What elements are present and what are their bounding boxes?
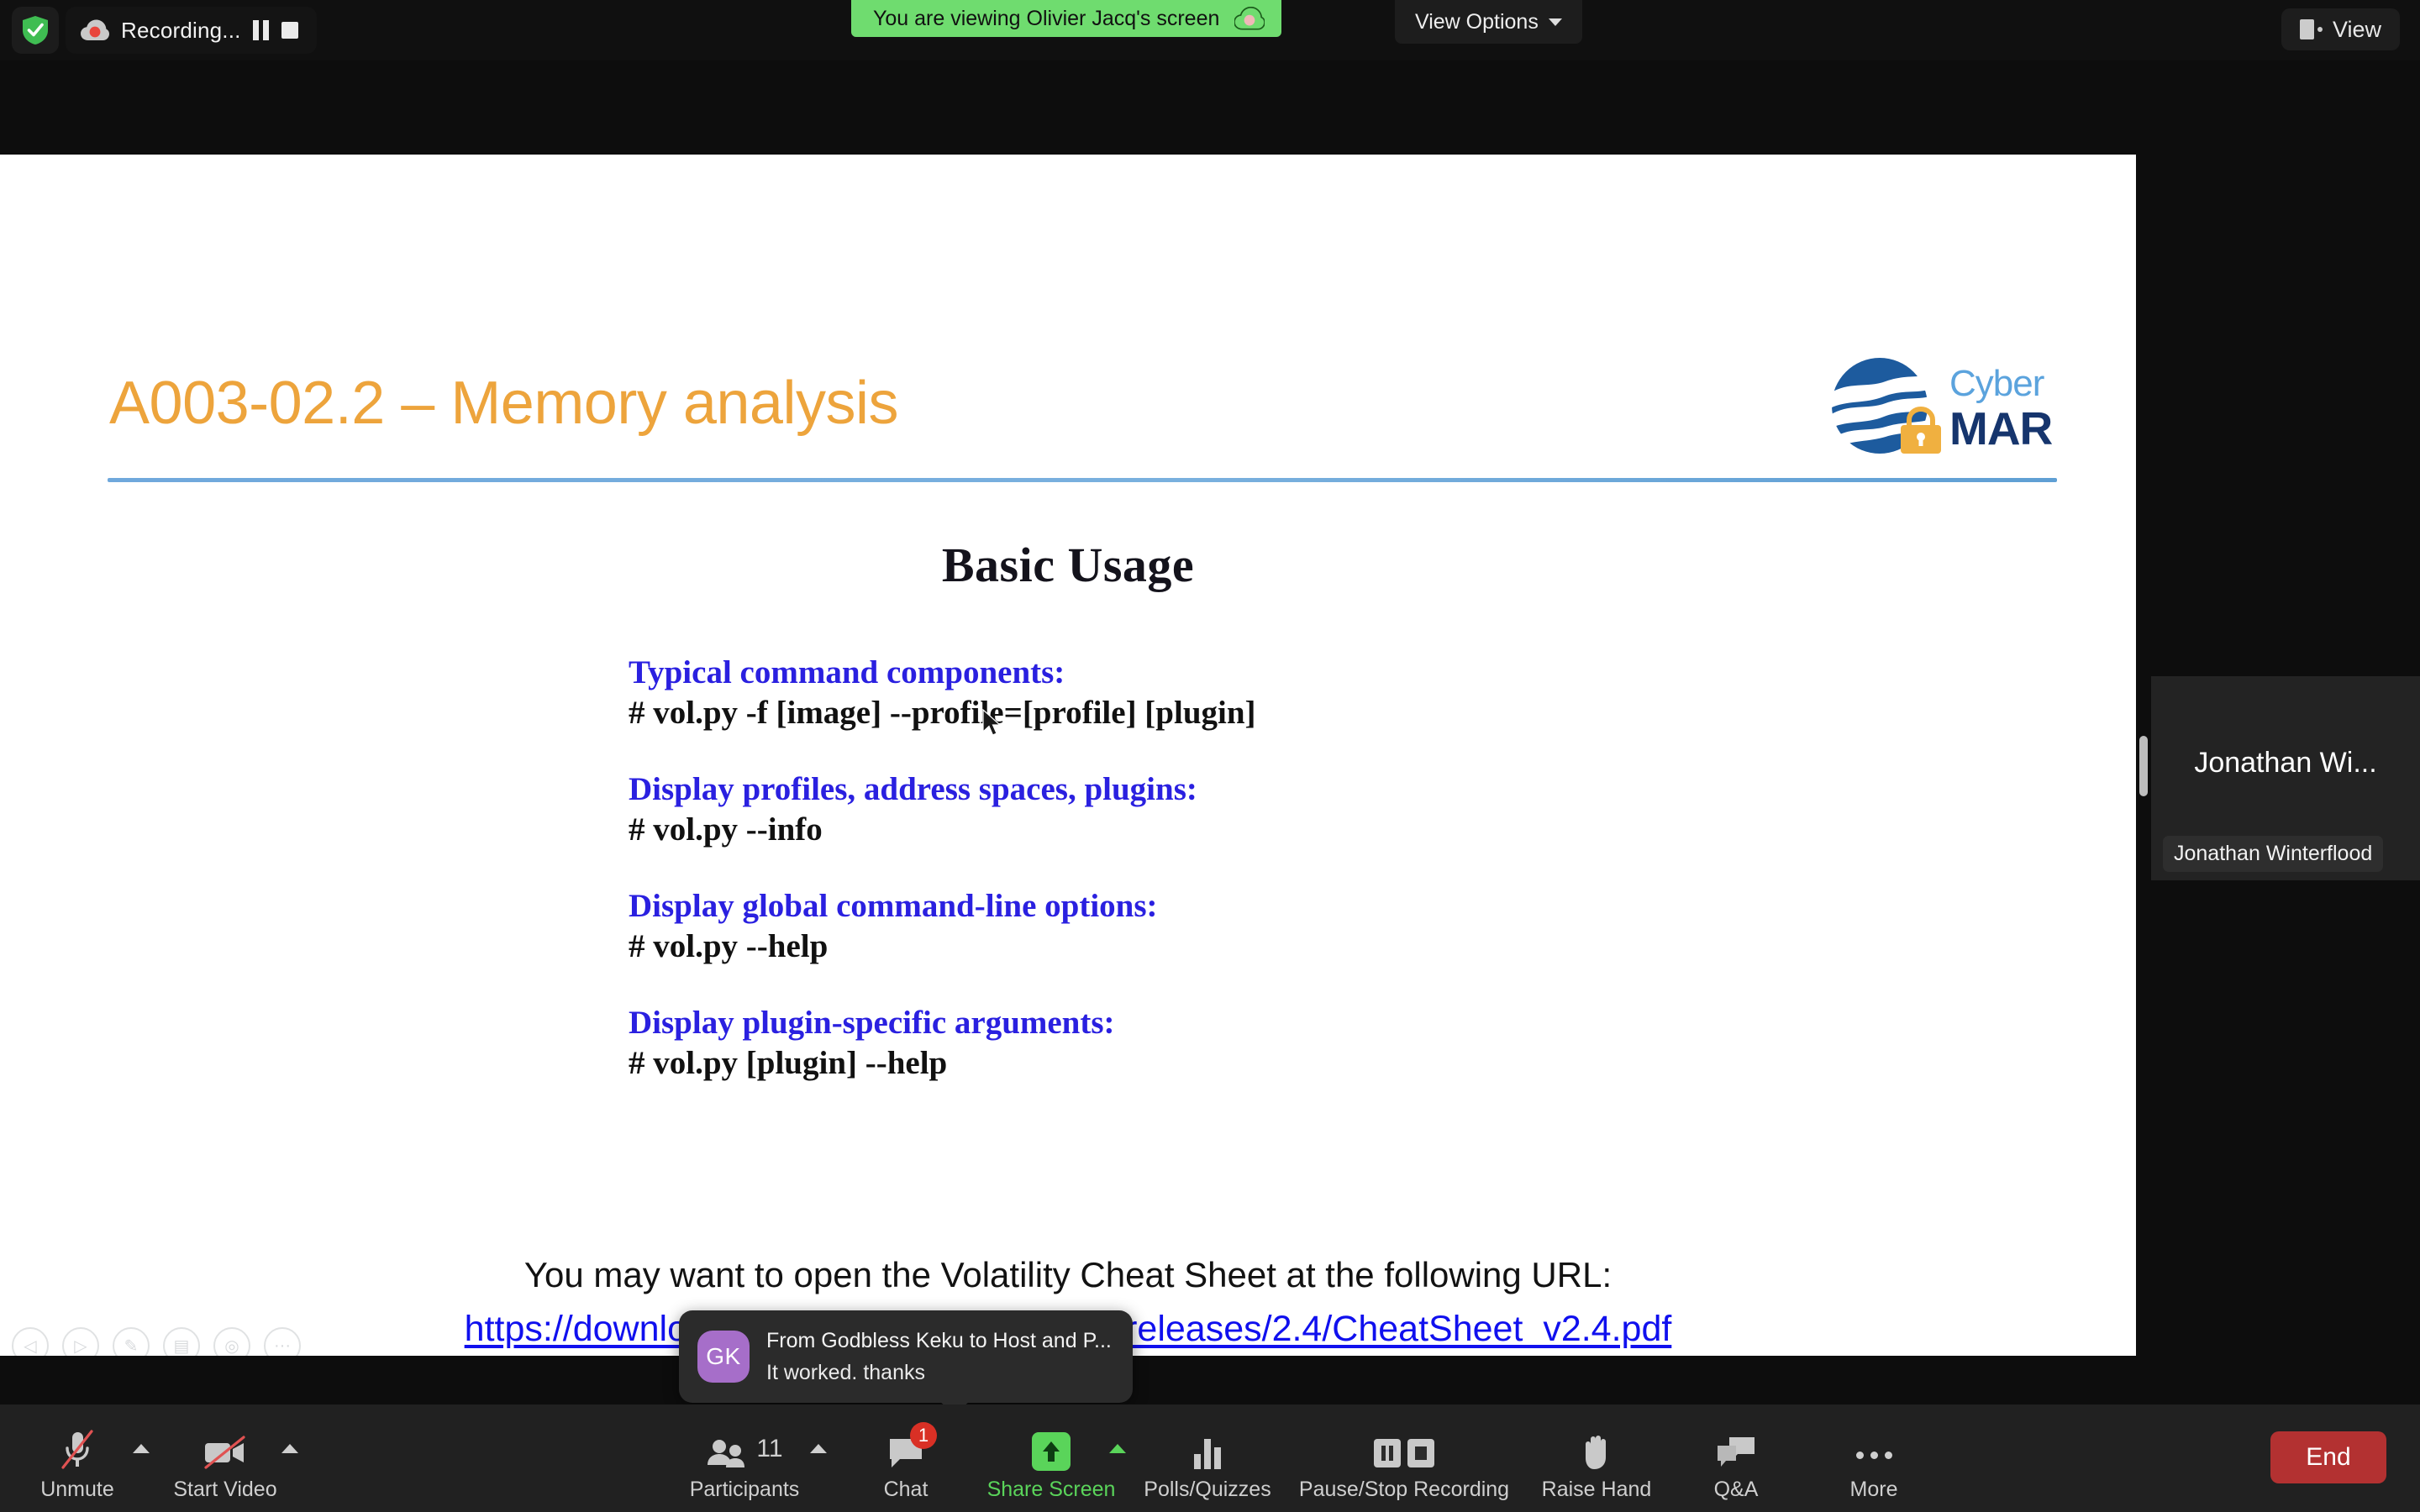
chevron-down-icon	[1549, 18, 1562, 26]
unmute-label: Unmute	[40, 1478, 114, 1502]
top-bar: Recording... You are viewing Olivier Jac…	[0, 0, 2420, 60]
qa-label: Q&A	[1714, 1478, 1759, 1502]
chat-button[interactable]: 1 Chat	[826, 1427, 986, 1502]
share-screen-button[interactable]: Share Screen	[971, 1427, 1131, 1502]
pause-stop-recording-button[interactable]: Pause/Stop Recording	[1324, 1427, 1484, 1502]
layout-icon[interactable]: ▤	[163, 1327, 200, 1356]
command-text: # vol.py --help	[629, 927, 1889, 967]
logo-mar-text: MAR	[1949, 402, 2052, 455]
zoom-meeting-window: Recording... You are viewing Olivier Jac…	[0, 0, 2420, 1512]
slide-title: A003-02.2 – Memory analysis	[109, 369, 898, 438]
participants-label: Participants	[690, 1478, 800, 1502]
chat-toast-message: It worked. thanks	[766, 1361, 1112, 1385]
command-text: # vol.py [plugin] --help	[629, 1043, 1889, 1084]
command-group: Display global command-line options: # v…	[629, 886, 1889, 966]
command-text: # vol.py -f [image] --profile=[profile] …	[629, 693, 1889, 733]
pause-stop-recording-icon	[1370, 1427, 1438, 1471]
qa-bubbles-icon	[1714, 1427, 1758, 1471]
pause-icon	[253, 20, 270, 40]
chat-icon: 1	[886, 1427, 925, 1471]
participant-name-badge: Jonathan Winterflood	[2163, 836, 2383, 872]
logo-cyber-text: Cyber	[1949, 363, 2044, 405]
polls-quizzes-button[interactable]: Polls/Quizzes	[1128, 1427, 1287, 1502]
chat-toast-body: From Godbless Keku to Host and P... It w…	[766, 1329, 1112, 1385]
participants-button[interactable]: 11 Participants	[665, 1427, 824, 1502]
view-layout-button[interactable]: View	[2281, 8, 2400, 50]
cyber-mar-logo: Cyber MAR	[1825, 354, 2069, 457]
command-heading: Display profiles, address spaces, plugin…	[629, 769, 1889, 810]
pause-stop-recording-label: Pause/Stop Recording	[1299, 1478, 1509, 1502]
command-heading: Display plugin-specific arguments:	[629, 1003, 1889, 1043]
viewing-screen-banner: You are viewing Olivier Jacq's screen	[851, 0, 1281, 37]
command-group: Typical command components: # vol.py -f …	[629, 653, 1889, 732]
more-dots-icon	[1856, 1427, 1892, 1471]
pen-icon[interactable]: ✎	[113, 1327, 150, 1356]
video-off-icon	[202, 1427, 249, 1471]
search-icon[interactable]: ◎	[213, 1327, 250, 1356]
next-slide-icon[interactable]: ▷	[62, 1327, 99, 1356]
share-options-caret[interactable]	[1109, 1444, 1126, 1453]
shared-screen-slide: A003-02.2 – Memory analysis Cyber MAR Ba…	[0, 155, 2136, 1356]
more-label: More	[1850, 1478, 1898, 1502]
recording-label: Recording...	[121, 18, 241, 44]
screen-share-cloud-icon	[1234, 7, 1265, 30]
qa-button[interactable]: Q&A	[1656, 1427, 1816, 1502]
polls-quizzes-label: Polls/Quizzes	[1144, 1478, 1270, 1502]
meeting-security-shield-button[interactable]	[12, 7, 59, 54]
participants-icon: 11	[706, 1427, 782, 1471]
participant-video-tile[interactable]: Jonathan Wi... Jonathan Winterflood	[2151, 676, 2420, 880]
start-video-button[interactable]: Start Video	[145, 1427, 305, 1502]
meeting-toolbar: Unmute Start Video	[0, 1404, 2420, 1512]
stop-icon	[281, 22, 298, 39]
share-screen-icon	[1032, 1427, 1071, 1471]
raise-hand-icon	[1579, 1427, 1614, 1471]
participants-options-caret[interactable]	[810, 1444, 827, 1453]
share-screen-label: Share Screen	[987, 1478, 1116, 1502]
slide-note: You may want to open the Volatility Chea…	[0, 1255, 2136, 1295]
command-list: Typical command components: # vol.py -f …	[629, 653, 1889, 1121]
raise-hand-label: Raise Hand	[1542, 1478, 1652, 1502]
participants-count: 11	[756, 1435, 782, 1463]
start-video-label: Start Video	[173, 1478, 276, 1502]
slide-annotation-toolbar[interactable]: ◁ ▷ ✎ ▤ ◎ ···	[12, 1327, 301, 1356]
title-divider	[108, 478, 2057, 482]
shield-check-icon	[21, 14, 50, 46]
recording-indicator[interactable]: Recording...	[66, 7, 317, 54]
stop-recording-button[interactable]	[281, 22, 298, 39]
viewing-screen-label: You are viewing Olivier Jacq's screen	[873, 7, 1219, 31]
command-heading: Typical command components:	[629, 653, 1889, 693]
command-group: Display profiles, address spaces, plugin…	[629, 769, 1889, 849]
command-text: # vol.py --info	[629, 810, 1889, 850]
raise-hand-button[interactable]: Raise Hand	[1517, 1427, 1676, 1502]
mouse-cursor	[981, 709, 1003, 739]
command-group: Display plugin-specific arguments: # vol…	[629, 1003, 1889, 1083]
view-layout-icon	[2300, 19, 2323, 39]
more-icon[interactable]: ···	[264, 1327, 301, 1356]
unmute-button[interactable]: Unmute	[0, 1427, 157, 1502]
prev-slide-icon[interactable]: ◁	[12, 1327, 49, 1356]
chat-notification-toast[interactable]: GK From Godbless Keku to Host and P... I…	[679, 1310, 1133, 1403]
chat-toast-sender: From Godbless Keku to Host and P...	[766, 1329, 1112, 1353]
chat-label: Chat	[884, 1478, 929, 1502]
chat-unread-badge: 1	[910, 1422, 937, 1449]
view-options-button[interactable]: View Options	[1395, 0, 1582, 44]
participant-panel-scrollbar[interactable]	[2139, 736, 2148, 796]
recording-cloud-icon	[81, 19, 109, 41]
pause-recording-button[interactable]	[253, 20, 270, 40]
command-heading: Display global command-line options:	[629, 886, 1889, 927]
end-meeting-button[interactable]: End	[2270, 1431, 2386, 1483]
poll-bars-icon	[1190, 1427, 1225, 1471]
padlock-icon	[1896, 407, 1946, 454]
avatar: GK	[697, 1331, 750, 1383]
participant-display-name: Jonathan Wi...	[2151, 747, 2420, 780]
view-button-label: View	[2333, 17, 2381, 43]
slide-heading: Basic Usage	[0, 537, 2136, 593]
more-button[interactable]: More	[1794, 1427, 1954, 1502]
view-options-label: View Options	[1415, 10, 1539, 34]
video-options-caret[interactable]	[281, 1444, 298, 1453]
microphone-muted-icon	[57, 1427, 97, 1471]
